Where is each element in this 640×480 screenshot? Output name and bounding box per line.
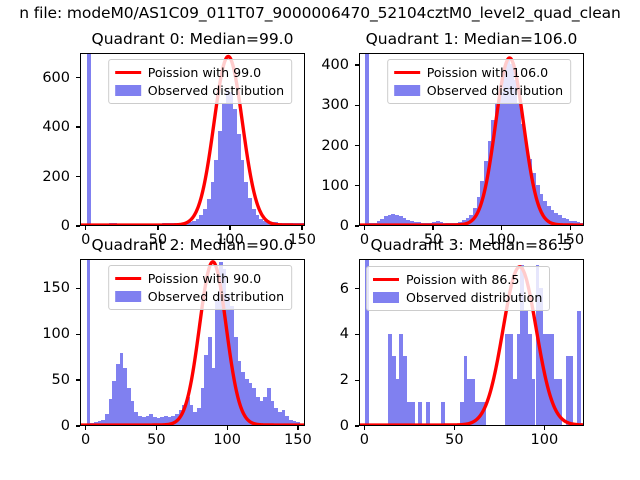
legend-label-observed: Observed distribution <box>148 83 284 98</box>
axes-quadrant-3: Poission with 86.5Observed distribution <box>359 259 584 426</box>
legend-patch-swatch-icon <box>115 291 141 302</box>
legend-label-observed: Observed distribution <box>406 290 542 305</box>
y-tick-mark <box>355 288 359 289</box>
x-tick-label: 0 <box>360 432 369 448</box>
legend-line-swatch-icon <box>115 71 141 74</box>
y-tick-mark <box>355 380 359 381</box>
legend-quadrant-1[interactable]: Poission with 106.0Observed distribution <box>387 59 571 104</box>
x-tick-label: 100 <box>531 432 559 448</box>
subplot-title-quadrant-3: Quadrant 3: Median=86.5 <box>371 236 573 254</box>
y-tick-mark <box>355 425 359 426</box>
legend-entry-poisson: Poission with 99.0 <box>115 65 284 80</box>
legend-label-observed: Observed distribution <box>148 289 284 304</box>
legend-entry-poisson: Poission with 90.0 <box>115 271 284 286</box>
matplotlib-figure: n file: modeM0/AS1C09_011T07_9000006470_… <box>0 0 640 480</box>
legend-label-observed: Observed distribution <box>427 83 563 98</box>
legend-patch-swatch-icon <box>115 85 141 96</box>
legend-label-poisson: Poission with 106.0 <box>427 65 548 80</box>
legend-label-poisson: Poission with 90.0 <box>148 271 261 286</box>
legend-line-swatch-icon <box>394 71 420 74</box>
legend-entry-poisson: Poission with 106.0 <box>394 65 563 80</box>
x-tick-mark <box>544 426 545 430</box>
legend-label-poisson: Poission with 86.5 <box>406 272 519 287</box>
legend-entry-observed: Observed distribution <box>373 290 542 305</box>
legend-entry-observed: Observed distribution <box>115 83 284 98</box>
x-tick-mark <box>364 426 365 430</box>
legend-entry-poisson: Poission with 86.5 <box>373 272 542 287</box>
legend-quadrant-2[interactable]: Poission with 90.0Observed distribution <box>108 265 292 310</box>
legend-quadrant-0[interactable]: Poission with 99.0Observed distribution <box>108 59 292 104</box>
legend-line-swatch-icon <box>115 277 141 280</box>
y-tick-label: 2 <box>279 372 349 388</box>
legend-patch-swatch-icon <box>373 292 399 303</box>
legend-entry-observed: Observed distribution <box>115 289 284 304</box>
legend-entry-observed: Observed distribution <box>394 83 563 98</box>
legend-label-poisson: Poission with 99.0 <box>148 65 261 80</box>
y-tick-label: 0 <box>279 418 349 434</box>
legend-line-swatch-icon <box>373 278 399 281</box>
y-tick-mark <box>355 334 359 335</box>
x-tick-label: 50 <box>445 432 463 448</box>
x-tick-mark <box>454 426 455 430</box>
legend-patch-swatch-icon <box>394 85 420 96</box>
y-tick-label: 4 <box>279 326 349 342</box>
legend-quadrant-3[interactable]: Poission with 86.5Observed distribution <box>366 266 550 311</box>
